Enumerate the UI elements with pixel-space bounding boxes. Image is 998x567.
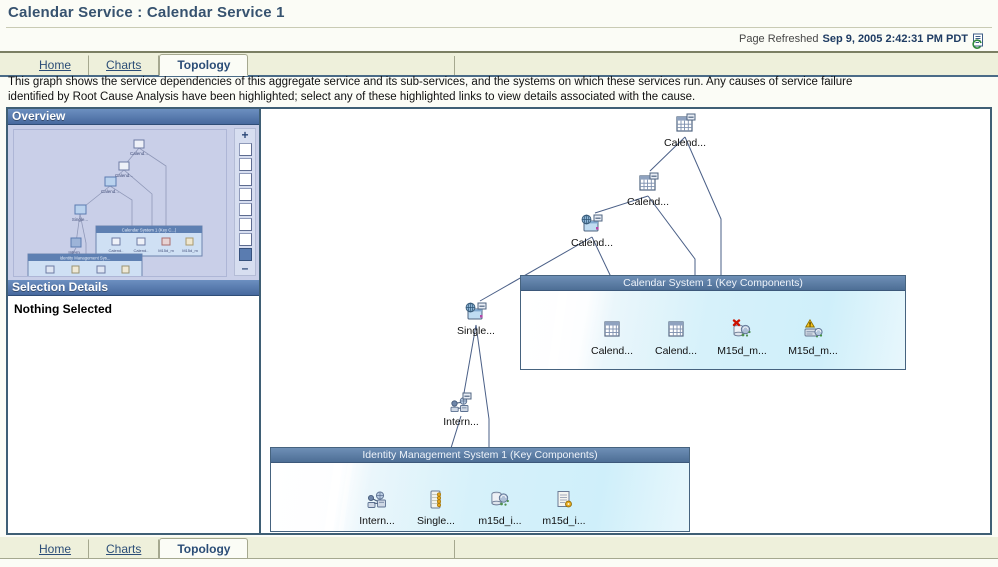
node-calendar-service-top[interactable]: Calend... <box>650 113 720 149</box>
zoom-step-6[interactable] <box>239 218 252 231</box>
svg-text:Calend...: Calend... <box>101 189 119 194</box>
tab-filler-top <box>248 56 455 75</box>
tabbar-bottom: Home Charts Topology <box>0 537 998 559</box>
node-label: Single... <box>441 326 511 337</box>
system-box-identity-management-system-1[interactable]: Identity Management System 1 (Key Compon… <box>270 447 690 532</box>
zoom-step-3[interactable] <box>239 173 252 186</box>
overview-minimap[interactable]: Calend... Calend... Calend... Single... … <box>13 129 227 277</box>
calendar-component-icon <box>576 319 648 343</box>
system-box-items: Intern... <box>271 463 689 531</box>
zoom-out-button[interactable]: – <box>242 263 249 274</box>
calendar-service-icon <box>613 172 683 196</box>
tab-topology[interactable]: Topology <box>159 54 248 76</box>
node-single-signon-service[interactable]: Single... <box>441 301 511 337</box>
node-label: Single... <box>400 515 472 527</box>
tab-list-top: Home Charts Topology <box>22 53 455 75</box>
topology-page: Calendar Service : Calendar Service 1 Pa… <box>0 0 998 567</box>
zoom-step-1[interactable] <box>239 143 252 156</box>
calendar-service-icon <box>650 113 720 137</box>
single-signon-icon <box>400 489 472 513</box>
host-warning-icon <box>777 319 849 343</box>
node-m15d-host-warning[interactable]: M15d_m... <box>777 319 849 357</box>
zoom-step-5[interactable] <box>239 203 252 216</box>
tab-charts-bottom[interactable]: Charts <box>89 539 159 559</box>
database-component-icon <box>464 489 536 513</box>
node-label: Calend... <box>650 138 720 149</box>
page-refreshed-label: Page Refreshed <box>739 33 819 45</box>
node-label: Calend... <box>613 197 683 208</box>
zoom-step-7[interactable] <box>239 233 252 246</box>
database-error-icon <box>706 319 778 343</box>
internet-directory-icon <box>426 392 496 416</box>
calendar-component-icon <box>640 319 712 343</box>
node-label: M15d_m... <box>706 345 778 357</box>
svg-text:Calend...: Calend... <box>130 151 148 156</box>
instructions: This graph shows the service dependencie… <box>8 75 986 105</box>
system-box-items: Calend... <box>521 291 905 369</box>
node-label: m15d_i... <box>528 515 600 527</box>
tab-filler-bottom <box>248 540 455 559</box>
node-calendar-service-mid[interactable]: Calend... <box>613 172 683 208</box>
page-refreshed-bar: Page Refreshed Sep 9, 2005 2:42:31 PM PD… <box>739 31 988 47</box>
tab-list-bottom: Home Charts Topology <box>22 537 455 559</box>
bottom-filler <box>0 559 998 567</box>
svg-text:Calend..: Calend.. <box>134 248 149 253</box>
node-m15d-identity-database[interactable]: m15d_i... <box>464 489 536 527</box>
tab-home-bottom[interactable]: Home <box>22 539 89 559</box>
svg-text:Calendar System 1 (Key C...): Calendar System 1 (Key C...) <box>122 228 177 233</box>
instructions-line-1: This graph shows the service dependencie… <box>8 75 986 90</box>
node-label: Calend... <box>640 345 712 357</box>
svg-text:Calend...: Calend... <box>115 173 133 178</box>
system-box-body: Calend... <box>521 291 905 369</box>
node-m15d-identity-log[interactable]: m15d_i... <box>528 489 600 527</box>
topology-content-frame: Overview <box>6 107 992 535</box>
node-calendar-component-2[interactable]: Calend... <box>640 319 712 357</box>
calendar-web-service-icon <box>557 213 627 237</box>
page-refreshed-time: Sep 9, 2005 2:42:31 PM PDT <box>822 33 968 45</box>
overview-panel-title: Overview <box>8 109 259 125</box>
node-label: M15d_m... <box>777 345 849 357</box>
overview-panel[interactable]: Calend... Calend... Calend... Single... … <box>8 125 259 280</box>
tab-topology-bottom[interactable]: Topology <box>159 538 248 560</box>
zoom-step-2[interactable] <box>239 158 252 171</box>
svg-text:Calend..: Calend.. <box>109 248 124 253</box>
log-component-icon <box>528 489 600 513</box>
system-box-title: Calendar System 1 (Key Components) <box>521 276 905 291</box>
node-internet-directory-service[interactable]: Intern... <box>426 392 496 428</box>
single-signon-service-icon <box>441 301 511 325</box>
system-box-body: Intern... <box>271 463 689 531</box>
selection-details-title: Selection Details <box>8 280 259 296</box>
node-label: Intern... <box>426 417 496 428</box>
node-single-signon-component[interactable]: Single... <box>400 489 472 527</box>
svg-text:Identity Management Sys...: Identity Management Sys... <box>60 256 111 261</box>
zoom-step-4[interactable] <box>239 188 252 201</box>
node-label: Calend... <box>576 345 648 357</box>
node-calendar-web-service[interactable]: Calend... <box>557 213 627 249</box>
tab-charts[interactable]: Charts <box>89 55 159 75</box>
node-m15d-database-critical[interactable]: M15d_m... <box>706 319 778 357</box>
tabbar-top: Home Charts Topology <box>0 53 998 77</box>
tab-home[interactable]: Home <box>22 55 89 75</box>
system-box-calendar-system-1[interactable]: Calendar System 1 (Key Components) <box>520 275 906 370</box>
node-label: m15d_i... <box>464 515 536 527</box>
topology-graph-canvas[interactable]: Calendar System 1 (Key Components) <box>261 109 990 533</box>
refresh-icon[interactable] <box>972 33 988 49</box>
node-calendar-component-1[interactable]: Calend... <box>576 319 648 357</box>
svg-text:Single...: Single... <box>72 217 88 222</box>
svg-text:M15d_m: M15d_m <box>158 248 174 253</box>
zoom-step-8[interactable] <box>239 248 252 261</box>
page-title: Calendar Service : Calendar Service 1 <box>8 4 285 21</box>
instructions-line-2: identified by Root Cause Analysis have b… <box>8 90 986 105</box>
zoom-in-button[interactable]: + <box>241 130 248 141</box>
selection-details-panel: Nothing Selected <box>8 296 259 316</box>
title-divider <box>6 27 992 28</box>
selection-details-value: Nothing Selected <box>14 302 112 316</box>
svg-text:M15d_m: M15d_m <box>182 248 198 253</box>
node-label: Calend... <box>557 238 627 249</box>
left-panel: Overview <box>8 109 261 533</box>
system-box-title: Identity Management System 1 (Key Compon… <box>271 448 689 463</box>
zoom-slider[interactable]: + – <box>234 128 256 276</box>
